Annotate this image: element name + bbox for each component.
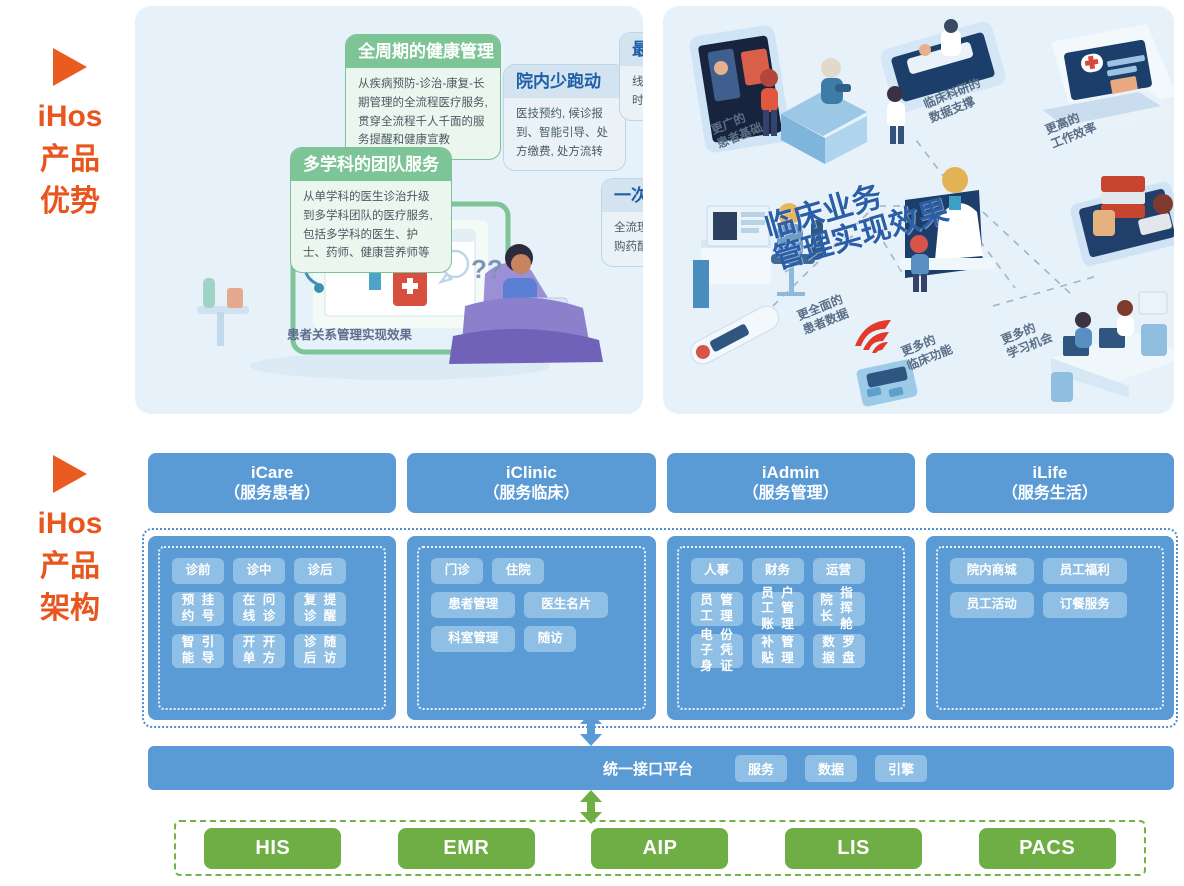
module-name: iAdmin <box>667 463 915 484</box>
chip-label-line: 电子身 <box>697 628 717 675</box>
base-system-his[interactable]: HIS <box>204 828 341 869</box>
callout-body: 线上提前预约, 按时到院检查检验 <box>620 66 643 119</box>
unified-interface-platform-bar: 统一接口平台 服务 数据 引擎 <box>148 746 1174 790</box>
chip-label-line: 订餐服务 <box>1060 597 1110 613</box>
double-arrow-icon-modules-platform <box>578 712 604 746</box>
module-body-icare: 诊前诊中诊后预约挂号在线问诊复诊提醒智能引导开单开方诊后随访 <box>148 536 396 720</box>
module-chip[interactable]: 诊后随访 <box>294 634 346 668</box>
module-chip[interactable]: 患者管理 <box>431 592 515 618</box>
module-chip[interactable]: 数据罗盘 <box>813 634 865 668</box>
platform-chip-engine[interactable]: 引擎 <box>875 755 927 782</box>
callout-card-multidisciplinary: 多学科的团队服务 从单学科的医生诊治升级到多学科团队的医疗服务, 包括多学科的医… <box>290 147 452 273</box>
callout-body: 从单学科的医生诊治升级到多学科团队的医疗服务, 包括多学科的医生、护士、药师、健… <box>291 181 451 272</box>
chip-label-line: 住院 <box>506 563 531 579</box>
module-chip[interactable]: 科室管理 <box>431 626 515 652</box>
module-subtitle: （服务生活） <box>926 484 1174 504</box>
rail-line3: 优势 <box>0 181 140 224</box>
chip-label-line: 员工福利 <box>1060 563 1110 579</box>
module-chip[interactable]: 诊前 <box>172 558 224 584</box>
module-chip[interactable]: 智能引导 <box>172 634 224 668</box>
chip-label-line: 门诊 <box>445 563 470 579</box>
chip-label-line: 提醒 <box>320 593 340 624</box>
rail-brand: iHos <box>0 96 140 139</box>
chip-label-line: 员工账 <box>758 586 778 633</box>
module-chip[interactable]: 开单开方 <box>233 634 285 668</box>
module-chip[interactable]: 复诊提醒 <box>294 592 346 626</box>
module-chip[interactable]: 订餐服务 <box>1043 592 1127 618</box>
chip-label-line: 人事 <box>704 563 729 579</box>
module-header-iadmin[interactable]: iAdmin （服务管理） <box>667 453 915 513</box>
callout-title: 最多跑一次 <box>620 33 643 66</box>
clinical-illustration-panel: 临床业务 管理实现效果 更广的 患者基础 临床科研的 数据支撑 更高的 工作效率… <box>663 6 1174 414</box>
play-triangle-icon <box>53 48 87 86</box>
module-header-ilife[interactable]: iLife （服务生活） <box>926 453 1174 513</box>
module-body-row: 诊前诊中诊后预约挂号在线问诊复诊提醒智能引导开单开方诊后随访 门诊住院患者管理医… <box>148 536 1174 720</box>
chip-label-line: 开单 <box>239 635 259 666</box>
platform-chip-data[interactable]: 数据 <box>805 755 857 782</box>
chip-label-line: 户管理 <box>778 586 798 633</box>
chip-label-line: 复诊 <box>300 593 320 624</box>
module-chip[interactable]: 预约挂号 <box>172 592 224 626</box>
module-header-icare[interactable]: iCare （服务患者） <box>148 453 396 513</box>
module-subtitle: （服务患者） <box>148 484 396 504</box>
base-systems-group: HIS EMR AIP LIS PACS <box>174 820 1146 876</box>
callout-title: 一次不而跑 <box>602 179 643 212</box>
base-system-emr[interactable]: EMR <box>398 828 535 869</box>
module-body-iadmin: 人事财务运营员工管理员工账户管理院长指挥舱电子身份凭证补贴管理数据罗盘 <box>667 536 915 720</box>
callout-body: 从疾病预防-诊治-康复-长期管理的全流程医疗服务, 贯穿全流程千人千面的服务提醒… <box>346 68 500 159</box>
chip-label-line: 诊后 <box>307 563 332 579</box>
chip-label-line: 随访 <box>538 631 563 647</box>
platform-title: 统一接口平台 <box>603 758 693 779</box>
chip-label-line: 补贴 <box>758 635 778 666</box>
module-chip-group: 门诊住院患者管理医生名片科室管理随访 <box>417 546 645 710</box>
module-chip[interactable]: 员工管理 <box>691 592 743 626</box>
module-chip[interactable]: 门诊 <box>431 558 483 584</box>
callout-body: 全流理线上问诊、购药配送到家 <box>602 212 643 265</box>
chip-label-line: 罗盘 <box>839 635 859 666</box>
chip-label-line: 预约 <box>178 593 198 624</box>
module-chip[interactable]: 诊中 <box>233 558 285 584</box>
callout-card-no-trip: 一次不而跑 全流理线上问诊、购药配送到家 <box>601 178 643 267</box>
chip-label-line: 管理 <box>778 635 798 666</box>
base-system-lis[interactable]: LIS <box>785 828 922 869</box>
module-chip[interactable]: 财务 <box>752 558 804 584</box>
advantage-illustration-panel: ?? 全周期的健康管理 从疾病预防-诊治-康复-长期管理的全流程医疗服务, 贯穿… <box>135 6 643 414</box>
callout-title: 多学科的团队服务 <box>291 148 451 181</box>
chip-label-line: 患者管理 <box>448 597 498 613</box>
module-chip[interactable]: 在线问诊 <box>233 592 285 626</box>
module-chip[interactable]: 员工活动 <box>950 592 1034 618</box>
rail-title-advantage: iHos 产品 优势 <box>0 48 140 224</box>
chip-label-line: 在线 <box>239 593 259 624</box>
platform-chip-group: 服务 数据 引擎 <box>735 755 927 782</box>
module-chip[interactable]: 随访 <box>524 626 576 652</box>
module-name: iClinic <box>407 463 655 484</box>
module-chip[interactable]: 电子身份凭证 <box>691 634 743 668</box>
module-chip-group: 人事财务运营员工管理员工账户管理院长指挥舱电子身份凭证补贴管理数据罗盘 <box>677 546 905 710</box>
chip-label-line: 员工 <box>697 593 717 624</box>
module-chip[interactable]: 运营 <box>813 558 865 584</box>
chip-label-line: 数据 <box>819 635 839 666</box>
module-chip[interactable]: 补贴管理 <box>752 634 804 668</box>
double-arrow-icon-platform-base <box>578 790 604 824</box>
chip-label-line: 诊后 <box>300 635 320 666</box>
advantage-panel-caption: 患者关系管理实现效果 <box>287 324 412 343</box>
callout-card-less-running: 院内少跑动 医技预约, 候诊报到、智能引导、处方缴费, 处方流转 <box>503 64 626 171</box>
module-body-ilife: 院内商城员工福利员工活动订餐服务 <box>926 536 1174 720</box>
chip-label-line: 挂号 <box>198 593 218 624</box>
module-body-iclinic: 门诊住院患者管理医生名片科室管理随访 <box>407 536 655 720</box>
module-chip[interactable]: 院长指挥舱 <box>813 592 865 626</box>
base-system-aip[interactable]: AIP <box>591 828 728 869</box>
module-name: iLife <box>926 463 1174 484</box>
module-subtitle: （服务临床） <box>407 484 655 504</box>
module-header-iclinic[interactable]: iClinic （服务临床） <box>407 453 655 513</box>
chip-label-line: 问诊 <box>259 593 279 624</box>
base-system-pacs[interactable]: PACS <box>979 828 1116 869</box>
chip-label-line: 引导 <box>198 635 218 666</box>
chip-label-line: 院长 <box>819 593 835 624</box>
module-chip[interactable]: 诊后 <box>294 558 346 584</box>
platform-chip-service[interactable]: 服务 <box>735 755 787 782</box>
module-header-row: iCare （服务患者） iClinic （服务临床） iAdmin （服务管理… <box>148 453 1174 513</box>
callout-card-health: 全周期的健康管理 从疾病预防-诊治-康复-长期管理的全流程医疗服务, 贯穿全流程… <box>345 34 501 160</box>
architecture-section: iCare （服务患者） iClinic （服务临床） iAdmin （服务管理… <box>0 440 1184 886</box>
rail-line2: 产品 <box>0 139 140 182</box>
chip-label-line: 智能 <box>178 635 198 666</box>
chip-label-line: 管理 <box>717 593 737 624</box>
callout-card-one-trip: 最多跑一次 线上提前预约, 按时到院检查检验 <box>619 32 643 121</box>
chip-label-line: 开方 <box>259 635 279 666</box>
callout-title: 全周期的健康管理 <box>346 35 500 68</box>
module-subtitle: （服务管理） <box>667 484 915 504</box>
chip-label-line: 员工活动 <box>967 597 1017 613</box>
chip-label-line: 运营 <box>826 563 851 579</box>
module-chip-group: 诊前诊中诊后预约挂号在线问诊复诊提醒智能引导开单开方诊后随访 <box>158 546 386 710</box>
chip-label-line: 院内商城 <box>967 563 1017 579</box>
module-chip-group: 院内商城员工福利员工活动订餐服务 <box>936 546 1164 710</box>
module-chip[interactable]: 人事 <box>691 558 743 584</box>
module-chip[interactable]: 院内商城 <box>950 558 1034 584</box>
chip-label-line: 随访 <box>320 635 340 666</box>
chip-label-line: 诊中 <box>246 563 271 579</box>
module-chip[interactable]: 员工账户管理 <box>752 592 804 626</box>
chip-label-line: 医生名片 <box>541 597 591 613</box>
svg-text:??: ?? <box>471 254 503 284</box>
callout-body: 医技预约, 候诊报到、智能引导、处方缴费, 处方流转 <box>504 98 625 170</box>
chip-label-line: 指挥舱 <box>835 586 859 633</box>
chip-label-line: 份凭证 <box>717 628 737 675</box>
chip-label-line: 诊前 <box>185 563 210 579</box>
module-chip[interactable]: 员工福利 <box>1043 558 1127 584</box>
chip-label-line: 科室管理 <box>448 631 498 647</box>
module-chip[interactable]: 医生名片 <box>524 592 608 618</box>
module-chip[interactable]: 住院 <box>492 558 544 584</box>
chip-label-line: 财务 <box>765 563 790 579</box>
callout-title: 院内少跑动 <box>504 65 625 98</box>
module-name: iCare <box>148 463 396 484</box>
